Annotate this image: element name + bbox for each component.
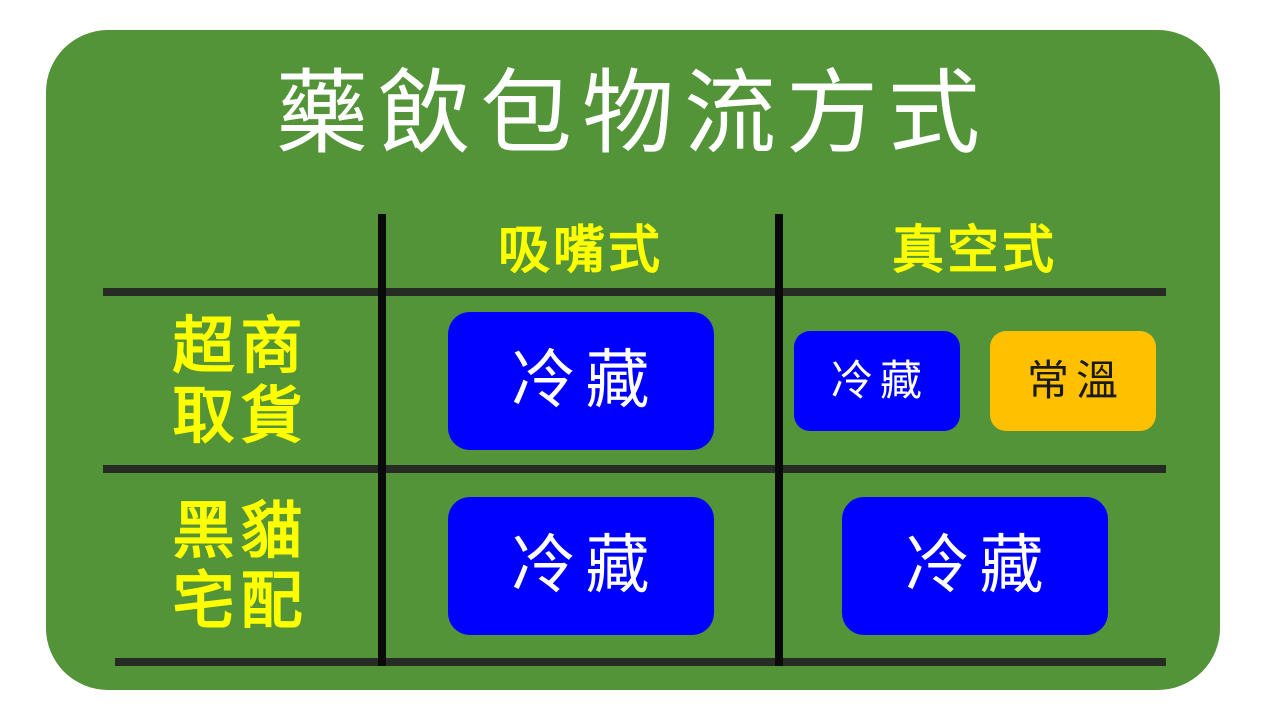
row-header-line-1: 超商: [172, 311, 308, 380]
row-header-convenience-store-pickup: 超商 取貨: [103, 296, 378, 465]
status-badge-cold: 冷藏: [794, 331, 960, 431]
status-badge-cold: 冷藏: [448, 497, 714, 635]
row-header-black-cat-delivery: 黑貓 宅配: [103, 473, 378, 658]
column-header-nozzle: 吸嘴式: [386, 214, 775, 288]
status-badge-cold: 冷藏: [448, 312, 714, 450]
slide-canvas: 藥飲包物流方式 吸嘴式 真空式 超商 取貨 黑貓 宅配 冷藏 冷藏 常溫 冷藏 …: [0, 0, 1280, 720]
row-header-line-2: 取貨: [172, 381, 308, 450]
table-cell: 冷藏: [386, 473, 775, 658]
page-title: 藥飲包物流方式: [46, 44, 1220, 184]
table-column-divider-right: [775, 214, 783, 666]
status-badge-cold: 冷藏: [842, 497, 1108, 635]
table-column-divider-left: [378, 214, 386, 666]
table-cell: 冷藏 常溫: [783, 296, 1166, 465]
row-header-line-1: 黑貓: [172, 496, 308, 565]
status-badge-ambient: 常溫: [990, 331, 1156, 431]
table-row-divider: [103, 465, 1166, 473]
table-cell: 冷藏: [783, 473, 1166, 658]
table-cell: 冷藏: [386, 296, 775, 465]
column-header-vacuum: 真空式: [783, 214, 1166, 288]
table-header-divider: [103, 288, 1166, 296]
table-bottom-border: [115, 658, 1166, 666]
row-header-line-2: 宅配: [172, 566, 308, 635]
